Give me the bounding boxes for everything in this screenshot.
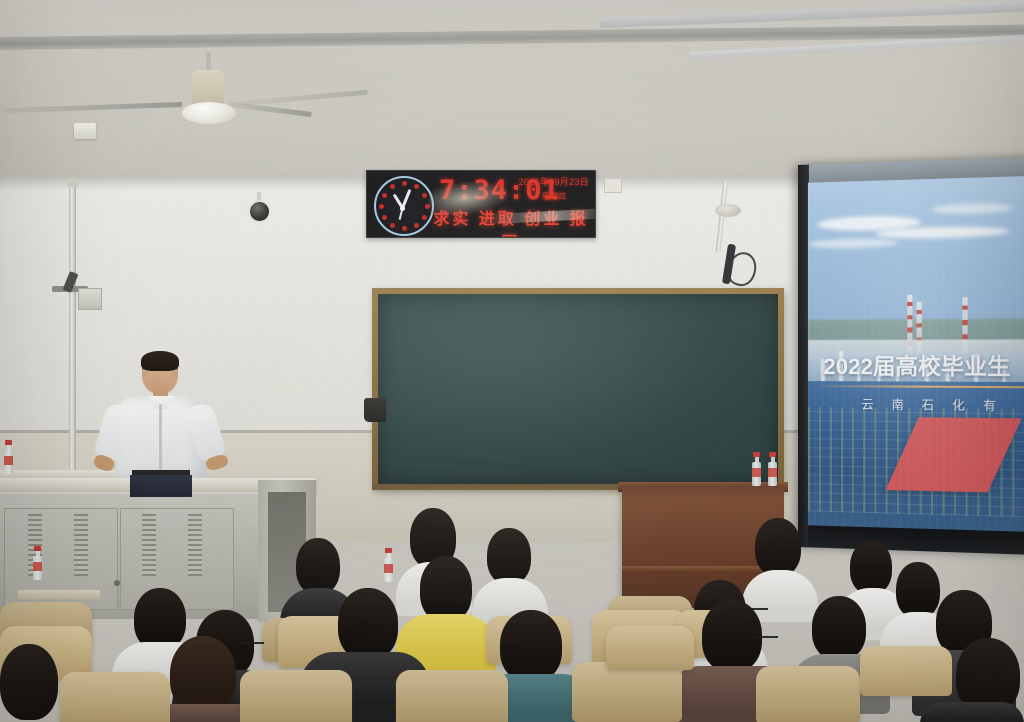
presenter-figure <box>96 352 228 488</box>
ceiling-mounted-box <box>74 123 96 139</box>
student-head <box>487 528 531 584</box>
slide-cloud <box>808 238 898 249</box>
slide-title: 2022届高校毕业生 <box>808 349 1024 382</box>
student-head <box>420 556 472 622</box>
student-head <box>896 562 940 618</box>
lecture-chair <box>860 646 952 696</box>
lecture-chair <box>60 672 170 722</box>
lecture-chair <box>396 670 508 722</box>
blackboard-side-clip <box>364 398 386 422</box>
dome-camera-icon <box>248 192 270 222</box>
ceiling-beam-secondary <box>600 1 1024 27</box>
led-analog-clock <box>374 176 434 236</box>
water-bottle <box>384 548 393 582</box>
lecture-chair <box>606 626 694 670</box>
standpipe-cap <box>67 178 78 187</box>
presenter-shirt-placket <box>159 404 162 470</box>
audience-area <box>0 470 1024 722</box>
student-head <box>500 610 562 682</box>
fan-blade <box>2 102 182 113</box>
student-head <box>338 588 398 660</box>
student-head <box>812 596 866 660</box>
wall-junction-box <box>78 288 102 310</box>
led-marquee-board: 7:34:01 2021年09月23日 星期四 求实 进取 创业 报国 <box>366 170 596 238</box>
student-torso <box>920 702 1024 722</box>
lecture-chair <box>756 666 860 722</box>
led-date-text: 2021年09月23日 <box>519 175 589 188</box>
led-date-block: 2021年09月23日 星期四 <box>519 175 589 202</box>
ceiling-fan-icon <box>120 52 310 122</box>
led-weekday-text: 星期四 <box>519 191 589 202</box>
lecture-chair <box>240 670 352 722</box>
clock-center-pin <box>400 206 405 211</box>
student-head <box>755 518 801 576</box>
presenter-hair <box>141 351 179 371</box>
student-head <box>0 644 58 720</box>
eyeglasses-icon <box>240 642 264 648</box>
camera-dome <box>250 202 269 221</box>
fan-blade <box>228 90 368 107</box>
blackboard-surface <box>378 294 778 484</box>
slide-subtitle: 云 南 石 化 有 <box>808 395 1024 414</box>
hanging-microphone-icon <box>715 182 755 287</box>
water-bottle <box>4 440 13 474</box>
wall-standpipe <box>69 182 76 500</box>
student-head <box>134 588 186 650</box>
ceiling <box>0 0 1024 178</box>
lecture-chair <box>572 662 682 722</box>
blackboard <box>372 288 784 490</box>
eyeglasses-icon <box>752 636 778 642</box>
slide-cloud <box>932 203 1012 215</box>
lecture-hall-photo: 7:34:01 2021年09月23日 星期四 求实 进取 创业 报国 <box>0 0 1024 722</box>
student-head <box>850 540 892 594</box>
wall-outlet-icon <box>604 178 622 193</box>
mic-ceiling-mount <box>715 204 741 217</box>
fan-hub <box>182 102 236 124</box>
student-head <box>296 538 340 594</box>
led-slogan-text: 求实 进取 创业 报国 <box>431 205 591 238</box>
student-head <box>170 636 236 714</box>
